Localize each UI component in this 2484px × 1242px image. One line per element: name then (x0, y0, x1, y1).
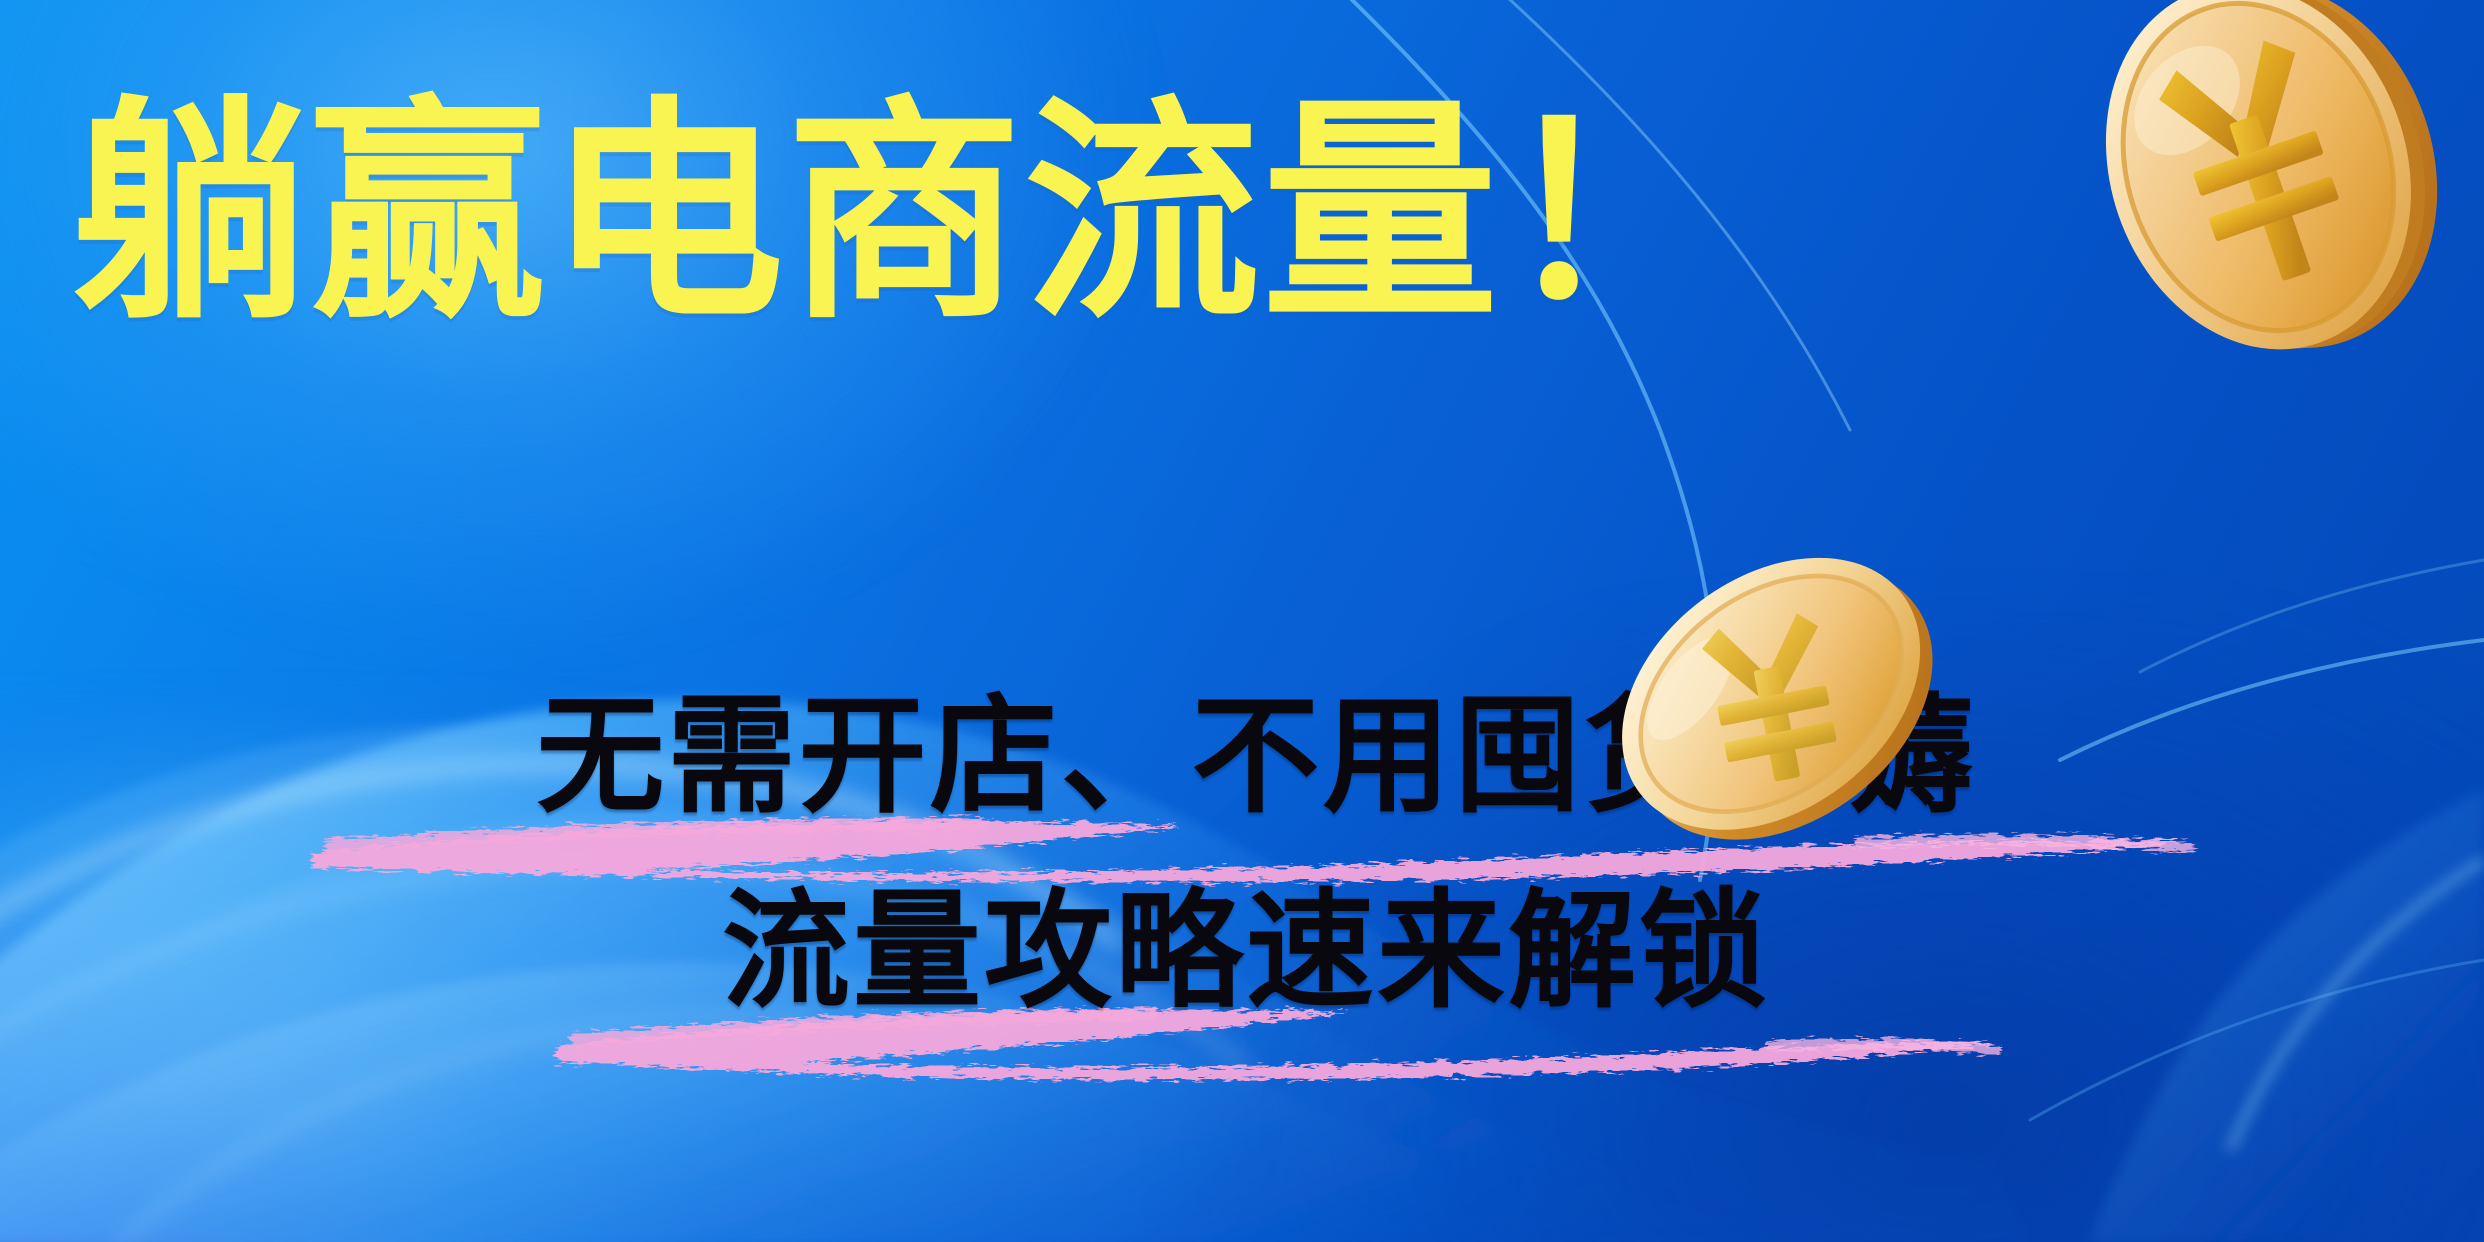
headline-text: 躺赢电商流量！ (72, 96, 2252, 332)
subtitle-line-2: 流量攻略速来解锁 (0, 855, 2484, 1050)
promo-banner: 躺赢电商流量！ 无需开店、不用囤货、薅 流量攻略速来解锁 (0, 0, 2484, 1242)
subtitle-block: 无需开店、不用囤货、薅 流量攻略速来解锁 (0, 660, 2484, 1049)
subtitle-line-1: 无需开店、不用囤货、薅 (0, 660, 2484, 855)
